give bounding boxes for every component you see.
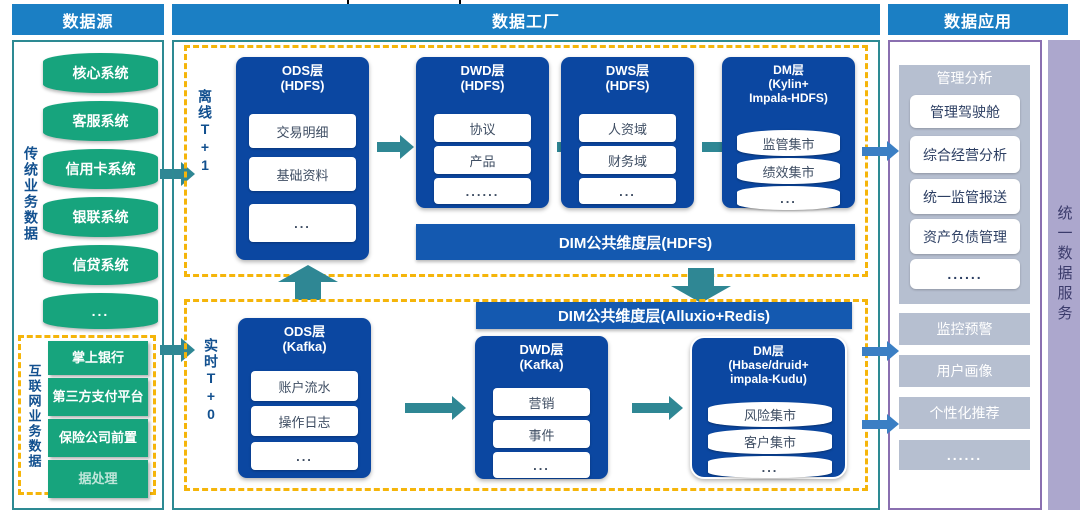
layer-card-dm-offline: DM层 (Kylin+ Impala-HDFS) 监管集市 绩效集市 ... — [722, 57, 855, 208]
list-item-label: 客户集市 — [744, 432, 796, 451]
list-item-label: 产品 — [469, 151, 495, 170]
list-item-label: 掌上银行 — [72, 351, 124, 365]
layer-title: DWS层 (HDFS) — [561, 57, 694, 94]
app-group-more-label: ...... — [947, 447, 982, 463]
layer-title-line2: (HDFS) — [416, 78, 549, 93]
layer-title-line2: (Hbase/druid+ — [692, 358, 845, 372]
arrow-realtime-to-offline — [295, 281, 321, 300]
list-item-label: 据处理 — [78, 472, 117, 486]
list-item: 交易明细 — [249, 114, 356, 148]
list-item-label: ...... — [947, 266, 982, 282]
list-item: 营销 — [493, 388, 590, 416]
list-item[interactable]: 资产负债管理 — [910, 219, 1020, 254]
list-item: 产品 — [434, 146, 531, 174]
list-item-label: 人资域 — [608, 119, 647, 138]
list-item-label: 统一监管报送 — [923, 187, 1007, 207]
mgmt-analysis-group: 管理分析 管理驾驶舱 综合经营分析 统一监管报送 资产负债管理 ...... — [899, 65, 1030, 304]
list-item-label: 绩效集市 — [762, 162, 814, 181]
arrow-dwd-to-dm-realtime — [632, 403, 670, 413]
layer-title-line2: (HDFS) — [561, 78, 694, 93]
list-item-label: 资产负债管理 — [923, 227, 1007, 247]
layer-title-line1: DM层 — [722, 63, 855, 77]
layer-card-ods-offline: ODS层 (HDFS) 交易明细 基础资料 ... — [236, 57, 369, 260]
list-item-label: 核心系统 — [73, 66, 129, 81]
list-item-label: 第三方支付平台 — [52, 390, 143, 404]
list-item-label: 风险集市 — [744, 405, 796, 424]
arrow-to-monitoring — [862, 347, 888, 356]
list-item: 掌上银行 — [48, 341, 148, 375]
list-item: 绩效集市 — [737, 158, 840, 184]
realtime-t-plus-0-label: 实时T+0 — [200, 322, 222, 440]
list-item: ...... — [434, 178, 531, 204]
list-item-label: ... — [533, 458, 550, 473]
list-item: 人资域 — [579, 114, 676, 142]
list-item[interactable]: 统一监管报送 — [910, 179, 1020, 214]
list-item-label: ...... — [466, 184, 500, 199]
list-item: 客户集市 — [708, 429, 832, 454]
header-data-application-label: 数据应用 — [944, 8, 1012, 32]
list-item-label: 事件 — [528, 425, 554, 444]
layer-card-dwd-offline: DWD层 (HDFS) 协议 产品 ...... — [416, 57, 549, 208]
layer-card-dwd-realtime: DWD层 (Kafka) 营销 事件 ... — [475, 336, 608, 479]
internet-business-data-text: 互联网业务数据 — [25, 364, 44, 469]
list-item-label: 交易明细 — [276, 122, 328, 141]
list-item: ... — [493, 452, 590, 478]
layer-card-dm-realtime: DM层 (Hbase/druid+ impala-Kudu) 风险集市 客户集市… — [690, 336, 847, 479]
layer-title: DWD层 (HDFS) — [416, 57, 549, 94]
dim-bar-offline-label: DIM公共维度层(HDFS) — [559, 232, 712, 253]
app-group-more[interactable]: ...... — [899, 440, 1030, 470]
app-group-user-profile-label: 用户画像 — [937, 361, 993, 381]
list-item: 操作日志 — [251, 406, 358, 436]
list-item-label: 客服系统 — [73, 114, 129, 129]
internet-business-data-label: 互联网业务数据 — [24, 345, 44, 487]
layer-title: ODS层 (HDFS) — [236, 57, 369, 94]
list-item-label: ... — [294, 216, 311, 231]
list-item: ... — [579, 178, 676, 204]
list-item-label: 账户流水 — [278, 377, 330, 396]
layer-title: DM层 (Kylin+ Impala-HDFS) — [722, 57, 855, 105]
traditional-business-data-text: 传统业务数据 — [21, 146, 41, 242]
header-data-factory-label: 数据工厂 — [492, 8, 560, 32]
list-item-label: 信贷系统 — [73, 258, 129, 273]
list-item: 财务域 — [579, 146, 676, 174]
layer-title: DWD层 (Kafka) — [475, 336, 608, 373]
app-group-monitoring-label: 监控预警 — [937, 319, 993, 339]
app-group-personalization-label: 个性化推荐 — [930, 403, 1000, 423]
list-item: 客服系统 — [43, 101, 158, 141]
layer-title-line1: DWD层 — [416, 63, 549, 78]
header-data-source-label: 数据源 — [62, 8, 113, 32]
arrow-ods-to-dwd-realtime — [405, 403, 453, 413]
list-item: ... — [737, 186, 840, 210]
layer-title-line1: ODS层 — [236, 63, 369, 78]
app-group-monitoring[interactable]: 监控预警 — [899, 313, 1030, 345]
list-item-label: 营销 — [528, 393, 554, 412]
list-item: ... — [708, 456, 832, 478]
arrow-ods-to-dwd-offline — [377, 142, 401, 152]
list-item: 信用卡系统 — [43, 149, 158, 189]
list-item-label: 监管集市 — [762, 134, 814, 153]
list-item: 监管集市 — [737, 130, 840, 156]
list-item: ... — [249, 204, 356, 242]
offline-label-text: 离线T+1 — [195, 89, 215, 175]
list-item-label: 银联系统 — [73, 210, 129, 225]
list-item: 银联系统 — [43, 197, 158, 237]
layer-title-line1: ODS层 — [238, 324, 371, 339]
arrow-to-mgmt-analysis — [862, 147, 888, 156]
arrow-to-personalization — [862, 420, 888, 429]
layer-title-line3: impala-Kudu) — [692, 372, 845, 386]
list-item: 信贷系统 — [43, 245, 158, 285]
list-item: ... — [251, 442, 358, 470]
list-item[interactable]: ...... — [910, 259, 1020, 289]
header-data-factory: 数据工厂 — [172, 4, 880, 35]
layer-title-line2: (HDFS) — [236, 78, 369, 93]
list-item-label: 信用卡系统 — [66, 162, 136, 177]
list-item-label: 保险公司前置 — [59, 431, 137, 445]
list-item: 事件 — [493, 420, 590, 448]
layer-title: DM层 (Hbase/druid+ impala-Kudu) — [692, 338, 845, 386]
layer-title-line2: (Kylin+ — [722, 77, 855, 91]
list-item-label: ... — [619, 184, 636, 199]
layer-title-line1: DWD层 — [475, 342, 608, 357]
header-data-source: 数据源 — [12, 4, 164, 35]
mgmt-analysis-title-label: 管理分析 — [937, 68, 993, 88]
list-item: 第三方支付平台 — [48, 378, 148, 416]
dim-bar-realtime: DIM公共维度层(Alluxio+Redis) — [476, 302, 852, 329]
app-group-user-profile[interactable]: 用户画像 — [899, 355, 1030, 387]
dim-bar-realtime-label: DIM公共维度层(Alluxio+Redis) — [558, 305, 770, 326]
list-item[interactable]: 管理驾驶舱 — [910, 95, 1020, 128]
header-data-application: 数据应用 — [888, 4, 1068, 35]
dim-bar-offline: DIM公共维度层(HDFS) — [416, 224, 855, 260]
unified-data-service-text: 统一数据服务 — [1054, 205, 1075, 325]
list-item: 基础资料 — [249, 157, 356, 191]
app-group-personalization[interactable]: 个性化推荐 — [899, 397, 1030, 429]
list-item-label: 综合经营分析 — [923, 145, 1007, 165]
list-item-label: 操作日志 — [278, 412, 330, 431]
arrow-offline-to-realtime — [688, 268, 714, 287]
unified-data-service-label: 统一数据服务 — [1048, 180, 1080, 350]
layer-title-line2: (Kafka) — [238, 339, 371, 354]
offline-t-plus-1-label: 离线T+1 — [194, 72, 216, 192]
list-item-label: 协议 — [469, 119, 495, 138]
mgmt-analysis-title: 管理分析 — [899, 65, 1030, 91]
list-item-label: 管理驾驶舱 — [930, 102, 1000, 122]
list-item-label: ... — [92, 304, 110, 319]
list-item-label: 财务域 — [608, 151, 647, 170]
list-item-label: ... — [296, 449, 313, 464]
list-item: 保险公司前置 — [48, 419, 148, 457]
layer-title-line1: DWS层 — [561, 63, 694, 78]
list-item: 据处理 — [48, 460, 148, 498]
layer-card-dws-offline: DWS层 (HDFS) 人资域 财务域 ... — [561, 57, 694, 208]
list-item: ... — [43, 293, 158, 329]
layer-title-line3: Impala-HDFS) — [722, 91, 855, 105]
list-item: 协议 — [434, 114, 531, 142]
list-item-label: ... — [762, 460, 779, 475]
list-item: 账户流水 — [251, 371, 358, 401]
list-item[interactable]: 综合经营分析 — [910, 136, 1020, 173]
layer-card-ods-realtime: ODS层 (Kafka) 账户流水 操作日志 ... — [238, 318, 371, 478]
list-item-label: ... — [780, 191, 797, 206]
list-item-label: 基础资料 — [276, 165, 328, 184]
layer-title-line2: (Kafka) — [475, 357, 608, 372]
layer-title-line1: DM层 — [692, 344, 845, 358]
traditional-business-data-label: 传统业务数据 — [20, 88, 42, 300]
layer-title: ODS层 (Kafka) — [238, 318, 371, 355]
list-item: 核心系统 — [43, 53, 158, 93]
realtime-label-text: 实时T+0 — [201, 338, 221, 424]
list-item: 风险集市 — [708, 402, 832, 427]
architecture-diagram: 数据源 数据工厂 数据应用 传统业务数据 核心系统 客服系统 信用卡系统 银联系… — [0, 0, 1080, 516]
